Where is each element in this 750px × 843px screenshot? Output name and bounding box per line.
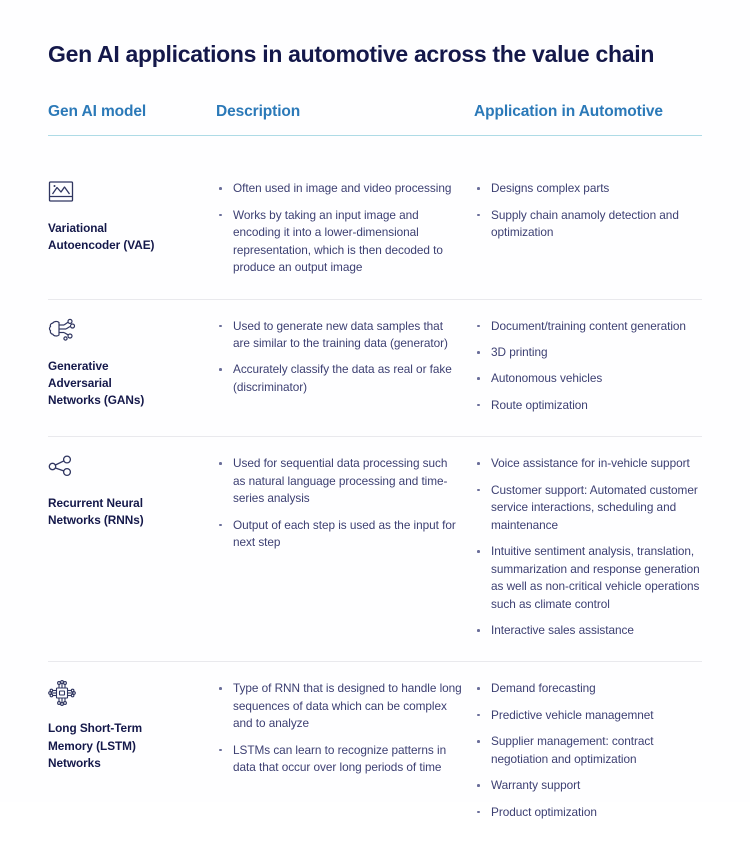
application-list: Demand forecasting Predictive vehicle ma… xyxy=(474,680,702,821)
list-item: Voice assistance for in-vehicle support xyxy=(474,455,702,472)
description-list: Often used in image and video processing… xyxy=(216,180,462,276)
application-list: Document/training content generation 3D … xyxy=(474,318,702,415)
list-item: Supply chain anamoly detection and optim… xyxy=(474,207,702,242)
page-title: Gen AI applications in automotive across… xyxy=(48,40,702,69)
list-item: Document/training content generation xyxy=(474,318,702,335)
list-item: Interactive sales assistance xyxy=(474,622,702,639)
list-item: Often used in image and video processing xyxy=(216,180,462,197)
row-application-cell: Voice assistance for in-vehicle support … xyxy=(474,437,702,661)
row-model-cell: Long Short-Term Memory (LSTM) Networks xyxy=(48,662,216,793)
list-item: Intuitive sentiment analysis, translatio… xyxy=(474,543,702,613)
list-item: Designs complex parts xyxy=(474,180,702,197)
column-header-gen-ai-model: Gen AI model xyxy=(48,103,216,135)
list-item: Customer support: Automated customer ser… xyxy=(474,482,702,534)
row-model-cell: Generative Adversarial Networks (GANs) xyxy=(48,300,216,431)
brain-network-icon xyxy=(48,318,206,348)
table-row: Generative Adversarial Networks (GANs) U… xyxy=(48,300,702,437)
row-application-cell: Document/training content generation 3D … xyxy=(474,300,702,437)
list-item: Works by taking an input image and encod… xyxy=(216,207,462,277)
description-list: Type of RNN that is designed to handle l… xyxy=(216,680,462,776)
list-item: Output of each step is used as the input… xyxy=(216,517,462,552)
row-description-cell: Used for sequential data processing such… xyxy=(216,437,474,573)
list-item: Accurately classify the data as real or … xyxy=(216,361,462,396)
description-list: Used to generate new data samples that a… xyxy=(216,318,462,397)
column-header-description: Description xyxy=(216,103,474,135)
model-name: Long Short-Term Memory (LSTM) Networks xyxy=(48,720,206,771)
application-list: Designs complex parts Supply chain anamo… xyxy=(474,180,702,241)
model-name: Recurrent Neural Networks (RNNs) xyxy=(48,495,206,529)
document-page: Gen AI applications in automotive across… xyxy=(0,0,750,802)
list-item: Used for sequential data processing such… xyxy=(216,455,462,507)
column-header-application: Application in Automotive xyxy=(474,103,702,135)
list-item: Autonomous vehicles xyxy=(474,370,702,387)
description-list: Used for sequential data processing such… xyxy=(216,455,462,551)
row-description-cell: Used to generate new data samples that a… xyxy=(216,300,474,419)
table-header-row: Gen AI model Description Application in … xyxy=(48,103,702,135)
row-model-cell: Variational Autoencoder (VAE) xyxy=(48,162,216,276)
table-row: Recurrent Neural Networks (RNNs) Used fo… xyxy=(48,437,702,661)
table-row: Variational Autoencoder (VAE) Often used… xyxy=(48,162,702,298)
application-list: Voice assistance for in-vehicle support … xyxy=(474,455,702,639)
value-chain-table: Gen AI model Description Application in … xyxy=(48,103,702,843)
row-description-cell: Often used in image and video processing… xyxy=(216,162,474,298)
list-item: Route optimization xyxy=(474,397,702,414)
model-name: Variational Autoencoder (VAE) xyxy=(48,220,206,254)
list-item: Product optimization xyxy=(474,804,702,821)
microchip-icon xyxy=(48,680,206,710)
row-application-cell: Designs complex parts Supply chain anamo… xyxy=(474,162,702,263)
list-item: Type of RNN that is designed to handle l… xyxy=(216,680,462,732)
header-divider xyxy=(48,135,702,137)
list-item: Used to generate new data samples that a… xyxy=(216,318,462,353)
list-item: Supplier management: contract negotiatio… xyxy=(474,733,702,768)
list-item: Predictive vehicle managemnet xyxy=(474,707,702,724)
image-frame-icon xyxy=(48,180,206,210)
list-item: LSTMs can learn to recognize patterns in… xyxy=(216,742,462,777)
model-name: Generative Adversarial Networks (GANs) xyxy=(48,358,206,409)
list-item: 3D printing xyxy=(474,344,702,361)
list-item: Warranty support xyxy=(474,777,702,794)
list-item: Demand forecasting xyxy=(474,680,702,697)
table-row: Long Short-Term Memory (LSTM) Networks T… xyxy=(48,662,702,843)
share-nodes-icon xyxy=(48,455,206,485)
row-model-cell: Recurrent Neural Networks (RNNs) xyxy=(48,437,216,551)
row-application-cell: Demand forecasting Predictive vehicle ma… xyxy=(474,662,702,843)
row-description-cell: Type of RNN that is designed to handle l… xyxy=(216,662,474,798)
